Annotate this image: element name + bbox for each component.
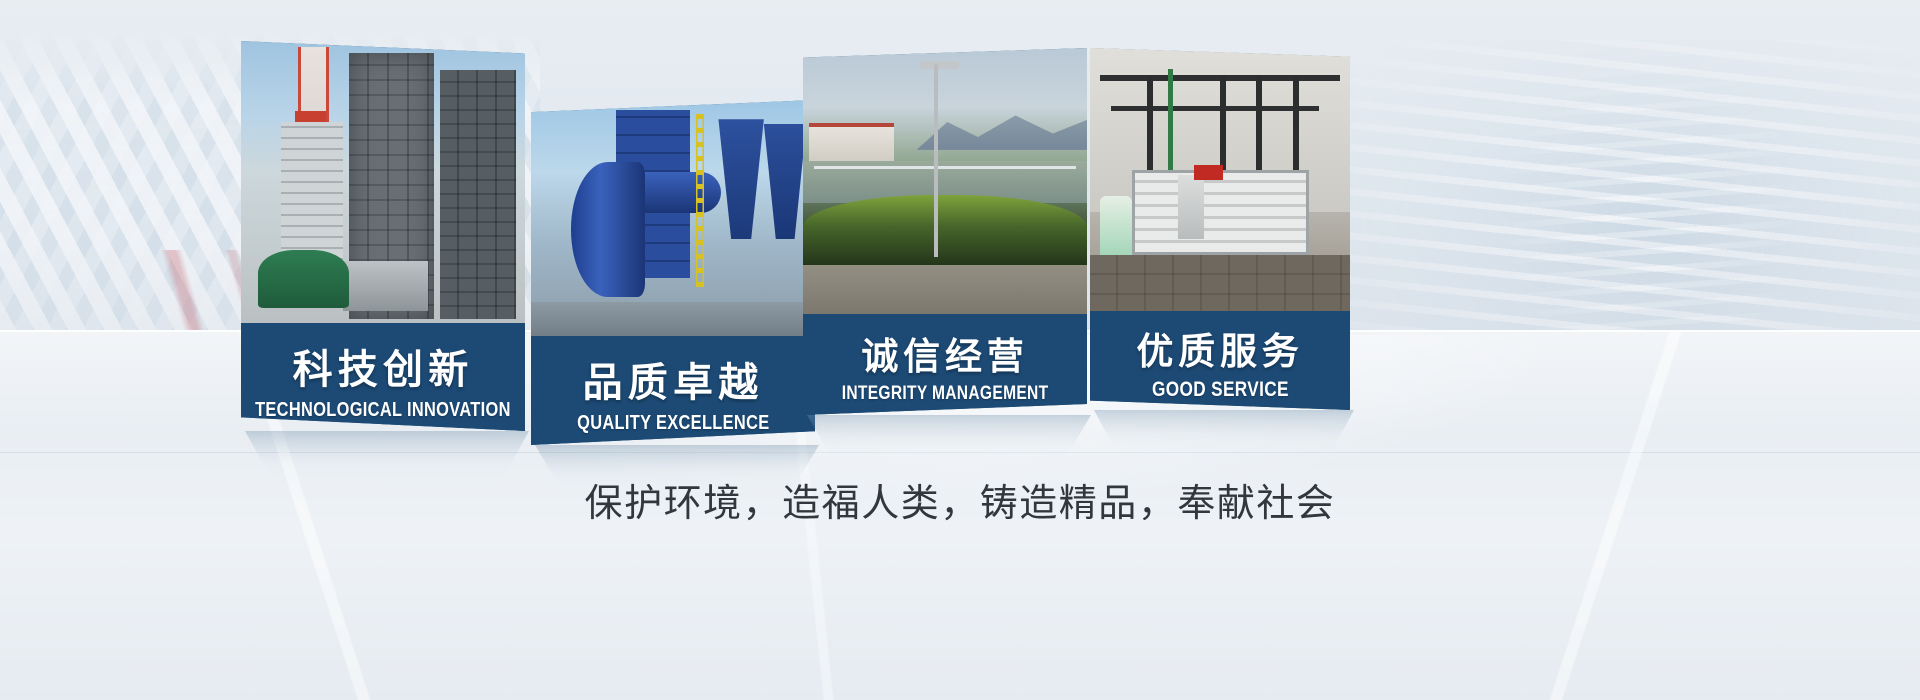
feature-card-technological-innovation[interactable]: 科技创新 TECHNOLOGICAL INNOVATION — [241, 41, 525, 431]
card-title-en: TECHNOLOGICAL INNOVATION — [255, 399, 511, 422]
card-label-good-service: 优质服务 GOOD SERVICE — [1090, 311, 1350, 410]
card-title-en: QUALITY EXCELLENCE — [577, 412, 769, 435]
card-title-cn: 品质卓越 — [583, 350, 764, 408]
feature-card-list: 科技创新 TECHNOLOGICAL INNOVATION 品质卓越 QUALI… — [0, 0, 1920, 700]
card-label-technological-innovation: 科技创新 TECHNOLOGICAL INNOVATION — [241, 323, 525, 431]
feature-card-quality-excellence[interactable]: 品质卓越 QUALITY EXCELLENCE — [531, 100, 815, 445]
card-title-en: GOOD SERVICE — [1152, 378, 1289, 402]
card-title-cn: 优质服务 — [1136, 321, 1303, 375]
banner-tagline: 保护环境，造福人类，铸造精品，奉献社会 — [0, 472, 1920, 527]
card-photo-good-service — [1090, 48, 1350, 313]
card-label-quality-excellence: 品质卓越 QUALITY EXCELLENCE — [531, 336, 815, 445]
card-reflection-3 — [807, 415, 1091, 473]
card-label-integrity-management: 诚信经营 INTEGRITY MANAGEMENT — [803, 314, 1087, 415]
card-title-cn: 科技创新 — [293, 337, 474, 395]
card-title-cn: 诚信经营 — [861, 326, 1028, 380]
card-title-en: INTEGRITY MANAGEMENT — [842, 383, 1049, 405]
card-photo-technological-innovation — [241, 41, 525, 331]
promo-banner: 科技创新 TECHNOLOGICAL INNOVATION 品质卓越 QUALI… — [0, 0, 1920, 700]
feature-card-integrity-management[interactable]: 诚信经营 INTEGRITY MANAGEMENT — [803, 48, 1087, 415]
card-reflection-4 — [1094, 410, 1354, 468]
card-photo-quality-excellence — [531, 100, 815, 340]
card-photo-integrity-management — [803, 48, 1087, 316]
feature-card-good-service[interactable]: 优质服务 GOOD SERVICE — [1090, 48, 1350, 410]
